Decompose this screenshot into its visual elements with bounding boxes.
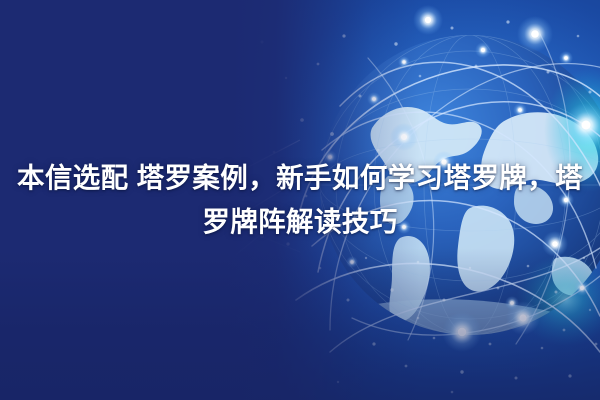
- headline-text: 本信选配 塔罗案例，新手如何学习塔罗牌，塔罗牌阵解读技巧: [15, 156, 585, 244]
- promo-banner: 本信选配 塔罗案例，新手如何学习塔罗牌，塔罗牌阵解读技巧: [0, 0, 600, 400]
- banner-headline: 本信选配 塔罗案例，新手如何学习塔罗牌，塔罗牌阵解读技巧: [0, 0, 600, 400]
